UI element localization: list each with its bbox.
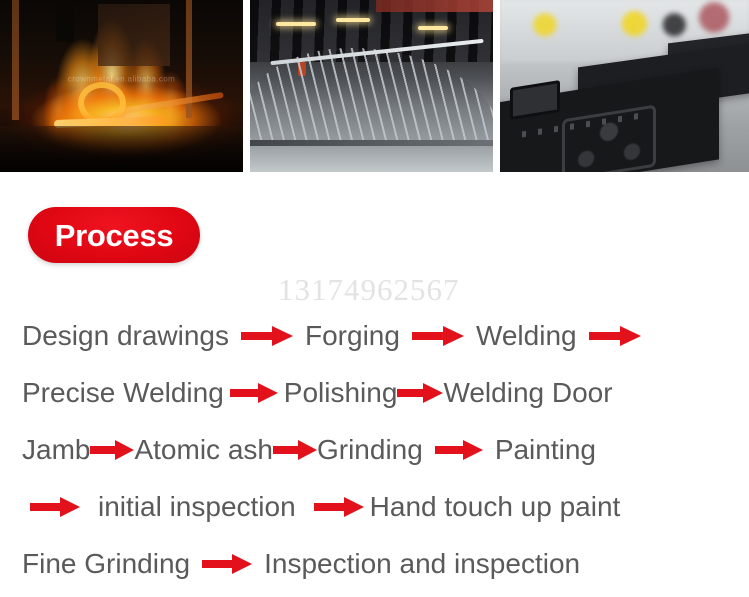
furnace-wall <box>98 4 170 66</box>
process-flow-line-4: initial inspection Hand touch up paint <box>22 478 734 535</box>
process-flow-line-5: Fine Grinding Inspection and inspection <box>22 535 734 592</box>
arrow-right-icon <box>30 496 80 518</box>
paint-shop-scene <box>500 0 749 172</box>
process-step-inspection-and-inspection: Inspection and inspection <box>264 550 580 578</box>
process-step-design-drawings: Design drawings <box>22 322 229 350</box>
photo-watermark: crownmetal.en.alibaba.com <box>68 75 175 84</box>
arrow-right-icon <box>412 325 464 347</box>
furnace-floor <box>0 126 243 172</box>
process-step-initial-inspection: initial inspection <box>98 493 296 521</box>
support-post-left <box>12 0 19 120</box>
arrow-right-icon <box>202 553 252 575</box>
ceiling-lamp <box>336 18 370 22</box>
process-step-atomic-ash: Atomic ash <box>134 436 273 464</box>
process-step-grinding: Grinding <box>317 436 423 464</box>
photo-strip: crownmetal.en.alibaba.com <box>0 0 749 172</box>
arrow-right-icon <box>241 325 293 347</box>
hot-steel-bar-rear <box>120 92 224 114</box>
process-step-fine-grinding: Fine Grinding <box>22 550 190 578</box>
red-crane-beam <box>376 0 493 12</box>
painted-door-panels-photo <box>500 0 749 172</box>
arrow-right-icon <box>273 439 317 461</box>
worker-silhouette <box>56 0 74 42</box>
process-flow-line-3: Jamb Atomic ash Grinding Painting <box>22 421 734 478</box>
process-step-welding: Welding <box>476 322 577 350</box>
arrow-right-icon <box>314 496 364 518</box>
arrow-right-icon <box>397 382 443 404</box>
ceiling-lamp <box>276 22 316 26</box>
process-badge-label: Process <box>55 220 174 251</box>
ceiling-lamp <box>418 26 448 30</box>
workshop-floor <box>250 146 493 172</box>
process-step-jamb: Jamb <box>22 436 90 464</box>
forging-furnace-photo: crownmetal.en.alibaba.com <box>0 0 243 172</box>
process-badge: Process <box>28 207 200 263</box>
phone-number-watermark: 13174962567 <box>278 272 460 308</box>
arrow-right-icon <box>230 382 278 404</box>
process-step-painting: Painting <box>495 436 596 464</box>
arrow-right-icon <box>435 439 483 461</box>
forging-scene: crownmetal.en.alibaba.com <box>0 0 243 172</box>
process-step-welding-door: Welding Door <box>443 379 612 407</box>
process-flow-line-2: Precise Welding Polishing Welding Door <box>22 364 734 421</box>
process-step-precise-welding: Precise Welding <box>22 379 224 407</box>
process-flow-list: Design drawings Forging Welding Precise … <box>22 307 734 592</box>
process-step-polishing: Polishing <box>284 379 398 407</box>
process-flow-line-1: Design drawings Forging Welding <box>22 307 734 364</box>
welded-arch-frame-photo <box>250 0 493 172</box>
workshop-scene <box>250 0 493 172</box>
arrow-right-icon <box>90 439 134 461</box>
process-step-hand-touch-up-paint: Hand touch up paint <box>370 493 621 521</box>
process-step-forging: Forging <box>305 322 400 350</box>
arrow-right-icon <box>589 325 641 347</box>
process-infographic-page: crownmetal.en.alibaba.com <box>0 0 749 597</box>
